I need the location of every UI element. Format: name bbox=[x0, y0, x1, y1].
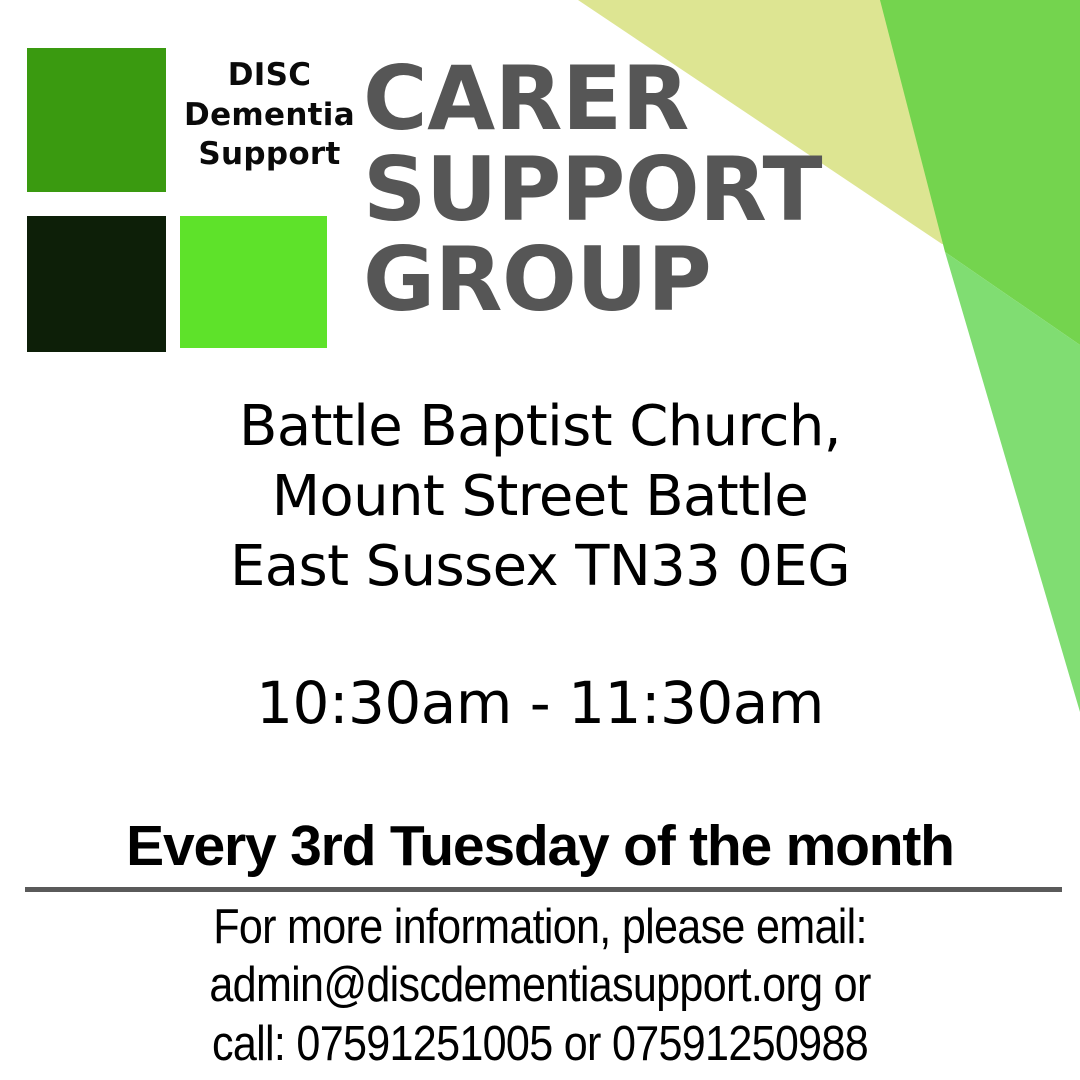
page-title: CARER SUPPORT GROUP bbox=[363, 54, 923, 326]
logo-square-dark bbox=[27, 216, 166, 352]
logo-wordmark-line-3: Support bbox=[177, 135, 362, 175]
contact-line-1: For more information, please email: bbox=[65, 898, 1015, 956]
logo-wordmark-line-1: DISC bbox=[177, 56, 362, 96]
disc-logo: DISC Dementia Support bbox=[27, 48, 329, 352]
venue-line-1: Battle Baptist Church, bbox=[0, 392, 1080, 462]
logo-square-green bbox=[27, 48, 166, 192]
contact-line-2-email: admin@discdementiasupport.org or bbox=[65, 956, 1015, 1014]
logo-wordmark: DISC Dementia Support bbox=[177, 56, 362, 175]
logo-wordmark-line-2: Dementia bbox=[177, 96, 362, 136]
meeting-frequency: Every 3rd Tuesday of the month bbox=[0, 815, 1080, 878]
venue-line-2: Mount Street Battle bbox=[0, 462, 1080, 532]
horizontal-divider bbox=[25, 887, 1062, 892]
page-title-line-1: CARER bbox=[363, 54, 923, 145]
logo-square-lime bbox=[180, 216, 327, 348]
contact-line-3-phone: call: 07591251005 or 07591250988 bbox=[65, 1015, 1015, 1073]
meeting-time: 10:30am - 11:30am bbox=[0, 672, 1080, 736]
page-title-line-2: SUPPORT bbox=[363, 145, 923, 236]
page-title-line-3: GROUP bbox=[363, 235, 923, 326]
poster-canvas: DISC Dementia Support CARER SUPPORT GROU… bbox=[0, 0, 1080, 1080]
venue-line-3: East Sussex TN33 0EG bbox=[0, 532, 1080, 602]
venue-address: Battle Baptist Church, Mount Street Batt… bbox=[0, 392, 1080, 602]
contact-details: For more information, please email: admi… bbox=[65, 898, 1015, 1073]
